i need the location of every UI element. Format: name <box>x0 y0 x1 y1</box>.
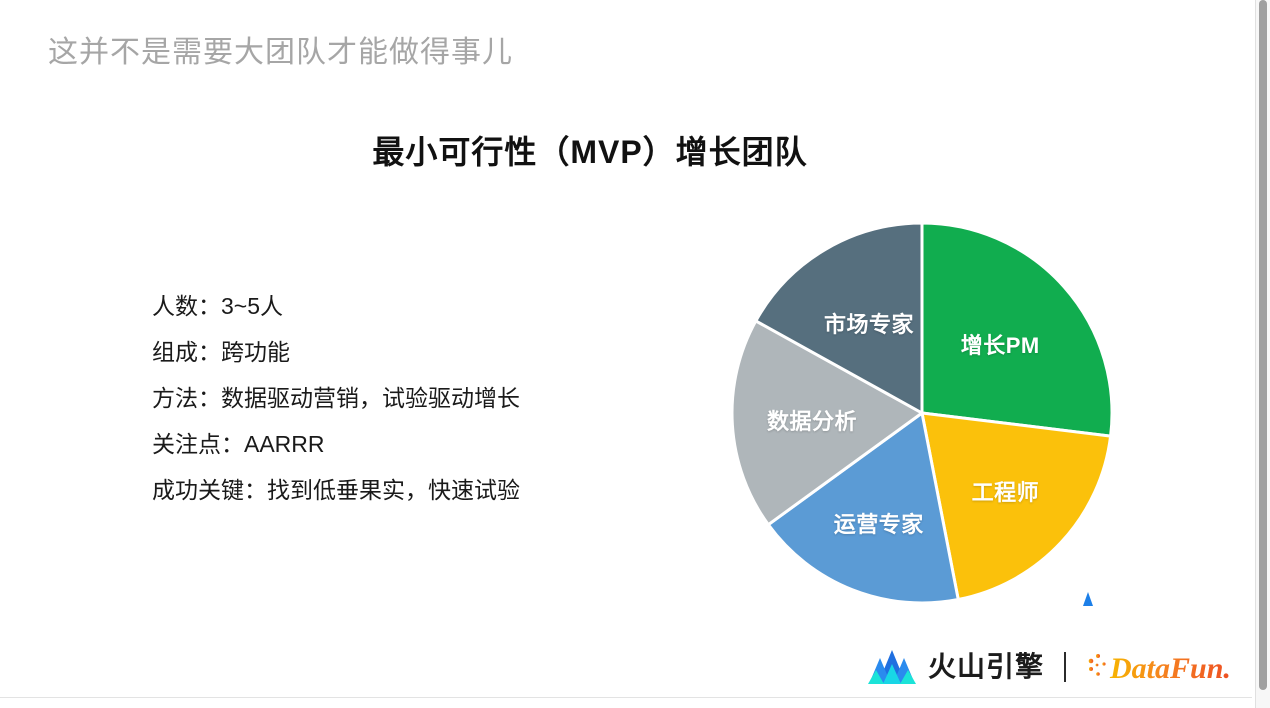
page-title: 最小可行性（MVP）增长团队 <box>0 130 1180 174</box>
blue-triangle-marker-icon <box>1082 592 1094 606</box>
vertical-scrollbar-thumb[interactable] <box>1259 0 1267 690</box>
datafun-logo: DataFun. <box>1086 647 1252 687</box>
footer-logos: 火山引擎 <box>866 644 1252 690</box>
presentation-slide: 这并不是需要大团队才能做得事儿 最小可行性（MVP）增长团队 人数：3~5人 组… <box>0 0 1252 698</box>
spec-list: 人数：3~5人 组成：跨功能 方法：数据驱动营销，试验驱动增长 关注点：AARR… <box>152 283 622 513</box>
pie-svg <box>731 222 1113 604</box>
slide-header-title: 这并不是需要大团队才能做得事儿 <box>48 33 513 73</box>
datafun-wordmark-icon: DataFun. <box>1086 647 1252 687</box>
vertical-scrollbar-track[interactable] <box>1255 0 1270 708</box>
volcano-engine-logo: 火山引擎 <box>866 648 1044 686</box>
spec-line-focus: 关注点：AARRR <box>152 421 622 467</box>
volcano-engine-wordmark: 火山引擎 <box>928 653 1044 681</box>
logo-divider <box>1064 652 1066 682</box>
team-composition-pie-chart: 增长PM 工程师 运营专家 数据分析 市场专家 <box>731 222 1113 604</box>
spec-line-keysuccess: 成功关键：找到低垂果实，快速试验 <box>152 467 622 513</box>
datafun-text: DataFun. <box>1109 652 1231 685</box>
volcano-mountain-icon <box>866 648 918 686</box>
spec-line-headcount: 人数：3~5人 <box>152 283 622 329</box>
spec-line-composition: 组成：跨功能 <box>152 329 622 375</box>
spec-line-method: 方法：数据驱动营销，试验驱动增长 <box>152 375 622 421</box>
pie-slice <box>922 223 1112 436</box>
